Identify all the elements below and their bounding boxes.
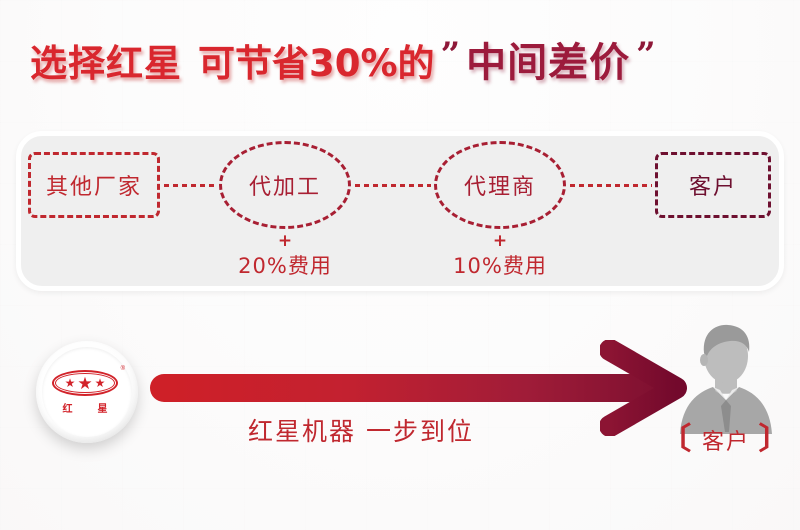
flow-node-label: 客户 [689,169,737,201]
connector-dots-2 [355,184,431,187]
flow-node-label: 代理商 [464,169,536,201]
flow-node-customer: 客户 [655,152,771,218]
bracket-left-icon: 〔 [658,429,693,451]
flow-node-label: 其他厂家 [46,169,142,201]
logo-star-icon: ★ [77,375,92,392]
hongxing-logo: ★ ★ ★ ® 红 星 [36,341,138,443]
direct-supply-slogan: 红星机器 一步到位 [248,412,474,448]
flow-node-agent: 代理商 [434,141,566,229]
fee-markup-oem: + 20%费用 [205,233,365,279]
flow-node-oem-processing: 代加工 [219,141,351,229]
bracket-right-icon: 〕 [758,429,793,451]
logo-char-left: 红 [63,400,73,415]
fee-amount: 10%费用 [420,253,580,279]
customer-label: 客户 [702,424,750,456]
logo-char-right: 星 [98,400,108,415]
flow-node-label: 代加工 [249,169,321,201]
fee-plus-sign: + [420,233,580,250]
fee-amount: 20%费用 [205,253,365,279]
flow-node-other-manufacturer: 其他厂家 [28,152,160,218]
connector-dots-3 [570,184,652,187]
logo-chinese-name: 红 星 [50,400,120,415]
fee-markup-agent: + 10%费用 [420,233,580,279]
logo-stars-icon: ★ ★ ★ [58,374,112,392]
registered-trademark-icon: ® [121,366,125,372]
fee-plus-sign: + [205,233,365,250]
connector-dots-1 [164,184,216,187]
logo-emblem: ★ ★ ★ ® 红 星 [50,366,124,418]
logo-star-icon: ★ [65,377,76,389]
customer-label-group: 〔 客户 〕 [648,424,800,456]
logo-star-icon: ★ [95,377,106,389]
